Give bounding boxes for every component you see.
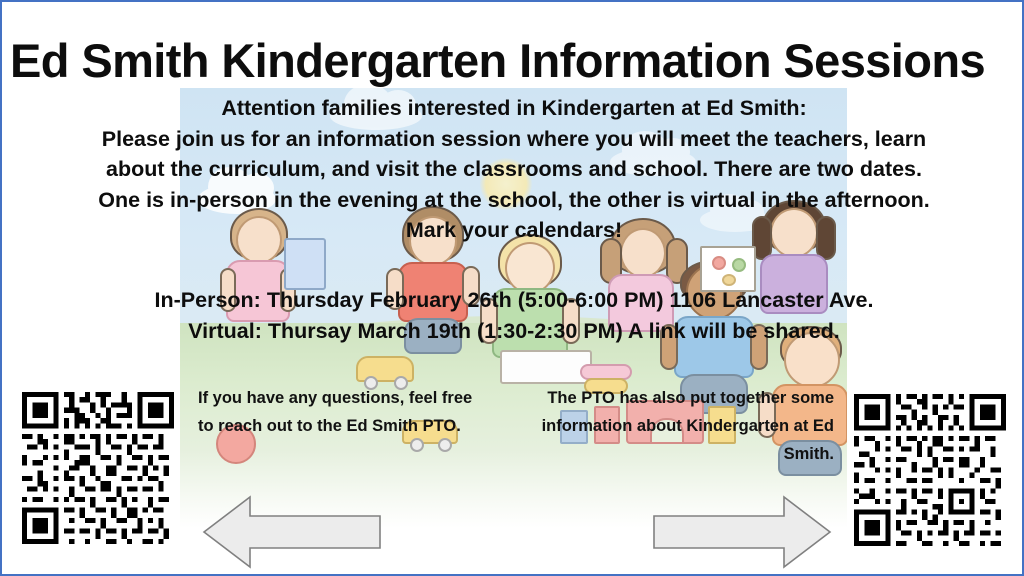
- left-arrow-to-qr-code: [202, 494, 382, 570]
- body-paragraph: Attention families interested in Kinderg…: [2, 93, 1024, 246]
- body-line: Attention families interested in Kinderg…: [2, 93, 1024, 124]
- session-schedule: In-Person: Thursday February 26th (5:00-…: [2, 285, 1024, 346]
- body-line: Mark your calendars!: [2, 215, 1024, 246]
- right-arrow-to-qr-code: [650, 494, 832, 570]
- pto-contact-note: If you have any questions, feel free to …: [198, 384, 484, 440]
- presentation-slide: Ed Smith Kindergarten Information Sessio…: [0, 0, 1024, 576]
- body-line: about the curriculum, and visit the clas…: [2, 154, 1024, 185]
- toy-car-wheel: [410, 438, 424, 452]
- toy-car-wheel: [438, 438, 452, 452]
- in-person-session-line: In-Person: Thursday February 26th (5:00-…: [2, 285, 1024, 316]
- qr-code-pto-contact[interactable]: [22, 392, 174, 544]
- page-title: Ed Smith Kindergarten Information Sessio…: [10, 33, 1018, 89]
- virtual-session-line: Virtual: Thursay March 19th (1:30-2:30 P…: [2, 316, 1024, 347]
- body-line: One is in-person in the evening at the s…: [2, 185, 1024, 216]
- qr-code-pto-kindergarten-info[interactable]: [854, 394, 1006, 546]
- body-line: Please join us for an information sessio…: [2, 124, 1024, 155]
- pto-info-note: The PTO has also put together some infor…: [522, 384, 834, 468]
